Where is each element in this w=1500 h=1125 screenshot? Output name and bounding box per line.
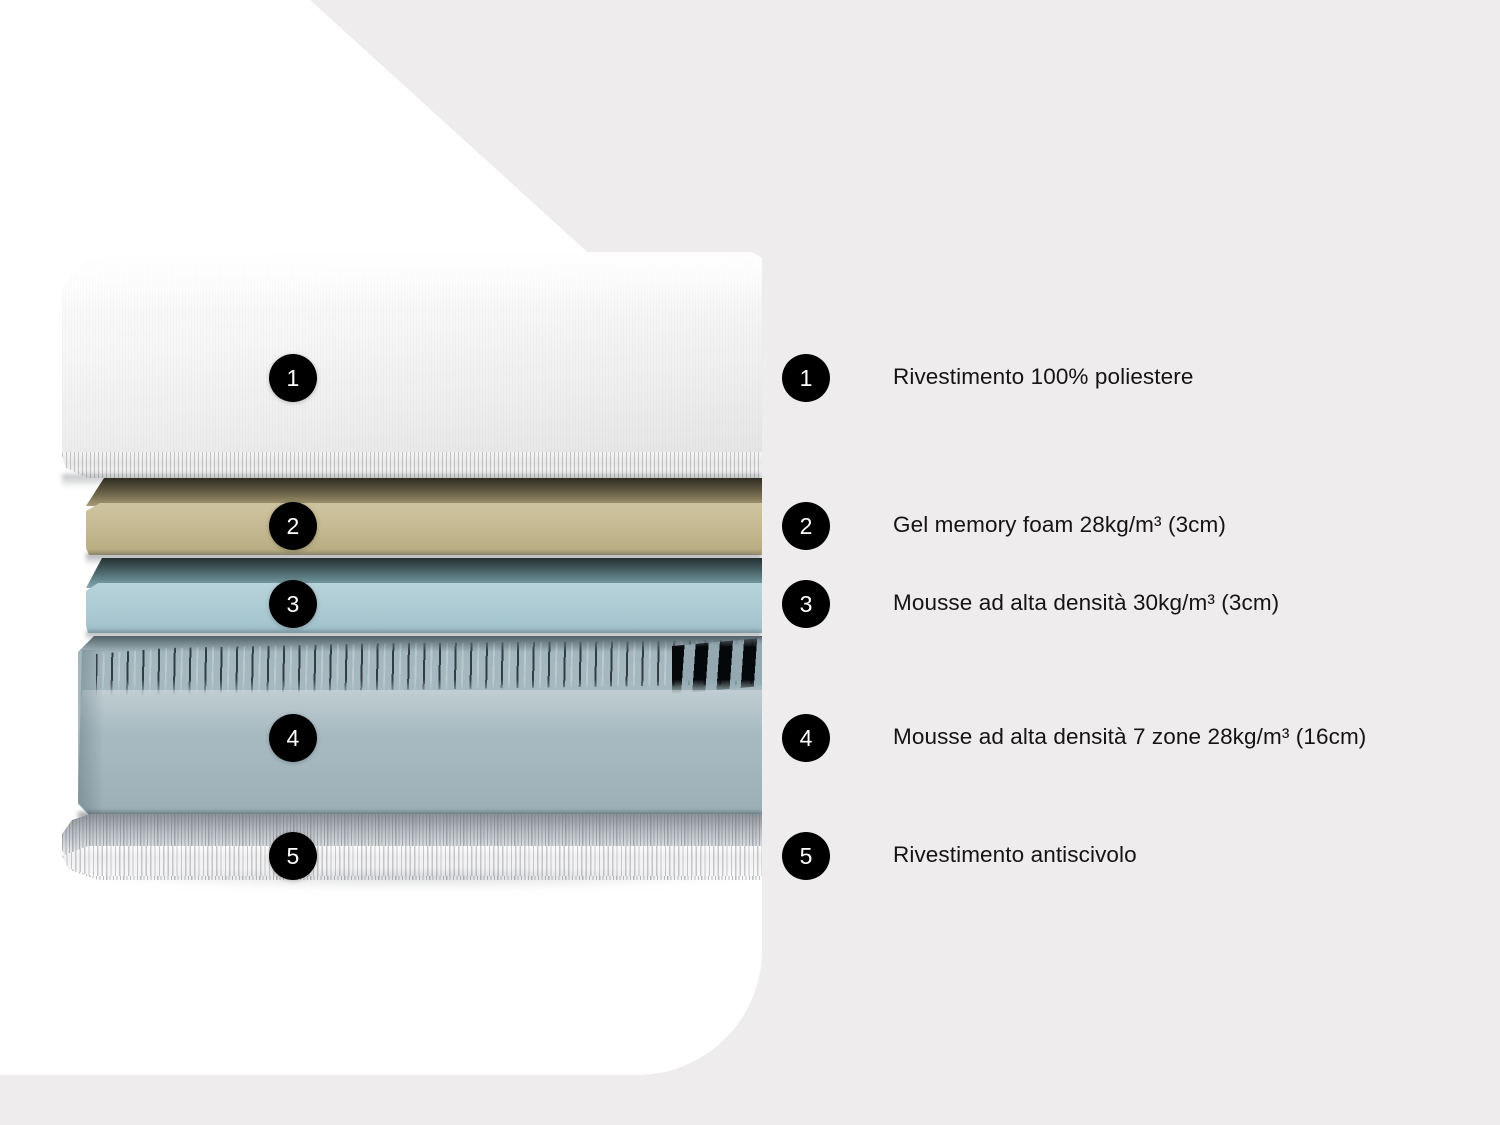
legend-badge-2-number: 2 [800, 513, 813, 540]
mattress-cutaway-render [0, 0, 762, 1125]
render-badge-1-number: 1 [287, 365, 300, 392]
infographic-canvas: 1 2 3 4 5 1 Rivestimento 100% poliestere… [0, 0, 1500, 1125]
legend-label-3: Mousse ad alta densità 30kg/m³ (3cm) [893, 580, 1402, 620]
legend-badge-2: 2 [782, 502, 830, 550]
legend-item-3[interactable]: 3 Mousse ad alta densità 30kg/m³ (3cm) [782, 580, 1402, 628]
layer-2-gel-foam-face [86, 530, 762, 555]
legend-item-5[interactable]: 5 Rivestimento antiscivolo [782, 832, 1402, 880]
legend-item-2[interactable]: 2 Gel memory foam 28kg/m³ (3cm) [782, 502, 1402, 550]
render-badge-3[interactable]: 3 [269, 580, 317, 628]
render-badge-1[interactable]: 1 [269, 354, 317, 402]
legend-badge-3-number: 3 [800, 591, 813, 618]
legend-item-4[interactable]: 4 Mousse ad alta densità 7 zone 28kg/m³ … [782, 714, 1402, 762]
legend-badge-5: 5 [782, 832, 830, 880]
layer-4-open-slots [672, 638, 762, 694]
legend-badge-4-number: 4 [800, 725, 813, 752]
legend-label-4: Mousse ad alta densità 7 zone 28kg/m³ (1… [893, 714, 1402, 754]
layer-2-gel-foam-underside [86, 478, 762, 506]
legend-label-5: Rivestimento antiscivolo [893, 832, 1402, 872]
layer-4-left-edge-shading [78, 650, 104, 818]
legend-label-2: Gel memory foam 28kg/m³ (3cm) [893, 502, 1402, 542]
layer-5-ground-shadow [74, 872, 762, 890]
legend-label-1: Rivestimento 100% poliestere [893, 354, 1402, 394]
legend-badge-1: 1 [782, 354, 830, 402]
legend-item-1[interactable]: 1 Rivestimento 100% poliestere [782, 354, 1402, 402]
legend-badge-4: 4 [782, 714, 830, 762]
render-badge-2[interactable]: 2 [269, 502, 317, 550]
render-badge-5[interactable]: 5 [269, 832, 317, 880]
render-badge-3-number: 3 [287, 591, 300, 618]
render-badge-4[interactable]: 4 [269, 714, 317, 762]
layer-1-top-cover [62, 252, 762, 474]
legend-badge-3: 3 [782, 580, 830, 628]
legend-badge-1-number: 1 [800, 365, 813, 392]
layer-3-mousse-face [86, 608, 762, 633]
layer-legend-list: 1 Rivestimento 100% poliestere 2 Gel mem… [782, 0, 1442, 1125]
render-badge-4-number: 4 [287, 725, 300, 752]
legend-badge-5-number: 5 [800, 843, 813, 870]
render-badge-2-number: 2 [287, 513, 300, 540]
render-badge-5-number: 5 [287, 843, 300, 870]
